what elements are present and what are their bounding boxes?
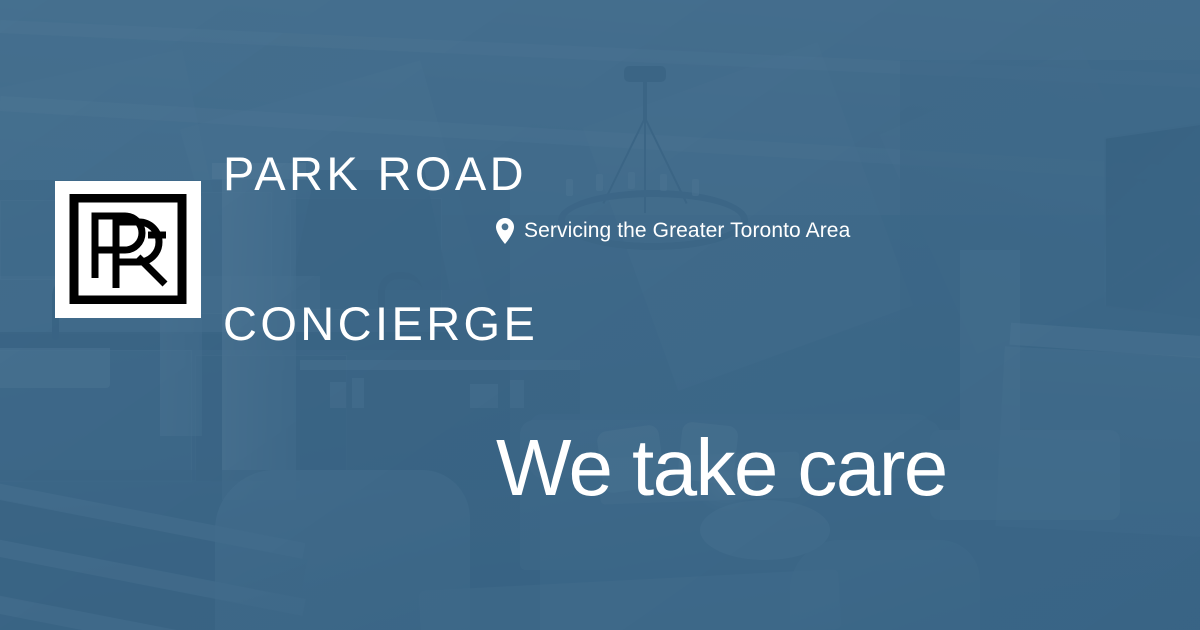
park-road-monogram-pr-icon <box>55 181 201 318</box>
hero-banner: PARK ROAD CONCIERGE Servicing the Greate… <box>0 0 1200 630</box>
wordmark-line-2: CONCIERGE <box>223 299 538 349</box>
service-area-eyebrow: Servicing the Greater Toronto Area <box>496 218 1056 244</box>
logo-lockup[interactable]: PARK ROAD CONCIERGE <box>55 49 538 449</box>
service-area-label: Servicing the Greater Toronto Area <box>524 218 850 244</box>
content-layer: PARK ROAD CONCIERGE Servicing the Greate… <box>0 0 1200 630</box>
hero-text-block: Servicing the Greater Toronto Area We ta… <box>496 218 1056 630</box>
wordmark-line-1: PARK ROAD <box>223 149 538 199</box>
hero-headline: We take care of you and your home. <box>496 255 1056 630</box>
map-pin-icon <box>496 218 514 244</box>
headline-line-1: We take care <box>496 425 1056 510</box>
brand-wordmark: PARK ROAD CONCIERGE <box>223 49 538 449</box>
